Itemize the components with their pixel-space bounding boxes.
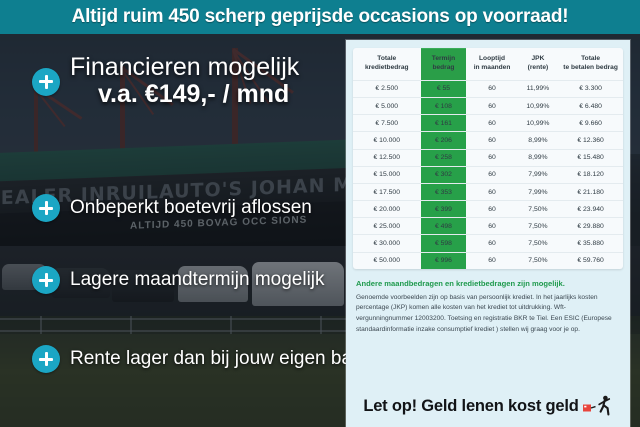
plus-icon [32,68,60,96]
table-cell: € 3.300 [558,80,623,97]
table-cell: € 25.000 [353,218,421,235]
table-cell: € 35.880 [558,235,623,252]
table-cell: € 18.120 [558,166,623,183]
rates-table-head: Totalekredietbedrag Termijnbedrag Loopti… [353,49,623,81]
rates-table-body: € 2.500€ 556011,99%€ 3.300€ 5.000€ 10860… [353,80,623,269]
table-cell: 7,50% [518,218,559,235]
top-banner-bar: Altijd ruim 450 scherp geprijsde occasio… [0,0,640,34]
table-row: € 20.000€ 399607,50%€ 23.940 [353,201,623,218]
table-row: € 30.000€ 598607,50%€ 35.880 [353,235,623,252]
table-cell: € 206 [421,132,467,149]
table-cell: € 6.480 [558,97,623,114]
table-cell: € 59.760 [558,252,623,269]
table-cell: 60 [466,252,517,269]
table-row: € 15.000€ 302607,99%€ 18.120 [353,166,623,183]
table-cell: € 17.500 [353,183,421,200]
table-cell: € 12.500 [353,149,421,166]
disclaimer-title: Andere maandbedragen en kredietbedragen … [356,279,620,289]
table-cell: € 2.500 [353,80,421,97]
table-cell: 7,50% [518,235,559,252]
table-cell: € 5.000 [353,97,421,114]
table-cell: 8,99% [518,132,559,149]
loan-warning: Let op! Geld lenen kost geld [346,395,630,417]
rates-table: Totalekredietbedrag Termijnbedrag Loopti… [353,48,623,269]
table-cell: 10,99% [518,97,559,114]
col-header-jpk: JPK(rente) [518,49,559,81]
rates-table-container: Totalekredietbedrag Termijnbedrag Loopti… [353,48,623,269]
table-cell: € 29.880 [558,218,623,235]
table-cell: € 30.000 [353,235,421,252]
table-cell: € 598 [421,235,467,252]
table-cell: € 55 [421,80,467,97]
col-header-total-credit: Totalekredietbedrag [353,49,421,81]
afm-running-man-money-icon [583,395,613,417]
table-cell: 60 [466,183,517,200]
table-cell: € 21.180 [558,183,623,200]
table-cell: 7,50% [518,252,559,269]
table-cell: € 15.000 [353,166,421,183]
top-banner-text: Altijd ruim 450 scherp geprijsde occasio… [72,6,569,28]
col-header-total-payable: Totalete betalen bedrag [558,49,623,81]
table-cell: € 23.940 [558,201,623,218]
table-cell: € 258 [421,149,467,166]
table-cell: 10,99% [518,115,559,132]
table-cell: 60 [466,97,517,114]
benefit-item-lower-rate: Rente lager dan bij jouw eigen bank [32,345,372,373]
promo-banner: Altijd ruim 450 scherp geprijsde occasio… [0,0,640,427]
disclaimer-body: Genoemde voorbeelden zijn op basis van p… [356,293,620,336]
table-row: € 10.000€ 206608,99%€ 12.360 [353,132,623,149]
table-cell: 7,99% [518,166,559,183]
table-cell: 60 [466,149,517,166]
table-row: € 17.500€ 353607,99%€ 21.180 [353,183,623,200]
table-row: € 50.000€ 996607,50%€ 59.760 [353,252,623,269]
table-header-row: Totalekredietbedrag Termijnbedrag Loopti… [353,49,623,81]
table-cell: 60 [466,235,517,252]
table-cell: € 9.660 [558,115,623,132]
finance-info-card: Totalekredietbedrag Termijnbedrag Loopti… [346,40,630,427]
plus-icon [32,266,60,294]
financing-headline-line1: Financieren mogelijk [70,54,299,80]
table-cell: € 498 [421,218,467,235]
table-cell: € 50.000 [353,252,421,269]
col-header-duration: Looptijdin maanden [466,49,517,81]
table-cell: € 161 [421,115,467,132]
table-cell: € 302 [421,166,467,183]
table-cell: € 15.480 [558,149,623,166]
financing-headline: Financieren mogelijk v.a. €149,- / mnd [70,54,299,109]
plus-icon [32,345,60,373]
table-cell: € 12.360 [558,132,623,149]
table-cell: € 7.500 [353,115,421,132]
benefit-label: Onbeperkt boetevrij aflossen [70,197,312,219]
table-cell: € 996 [421,252,467,269]
disclaimer-block: Andere maandbedragen en kredietbedragen … [356,279,620,336]
table-row: € 5.000€ 1086010,99%€ 6.480 [353,97,623,114]
benefit-label: Rente lager dan bij jouw eigen bank [70,348,372,370]
benefit-item-penalty-free: Onbeperkt boetevrij aflossen [32,194,312,222]
table-row: € 7.500€ 1616010,99%€ 9.660 [353,115,623,132]
table-row: € 25.000€ 498607,50%€ 29.880 [353,218,623,235]
table-cell: 11,99% [518,80,559,97]
table-cell: 60 [466,80,517,97]
table-cell: 60 [466,201,517,218]
table-cell: 60 [466,218,517,235]
table-cell: 60 [466,132,517,149]
col-header-term-amount: Termijnbedrag [421,49,467,81]
table-cell: 7,99% [518,183,559,200]
table-cell: 60 [466,115,517,132]
table-cell: 8,99% [518,149,559,166]
table-cell: 60 [466,166,517,183]
benefit-label: Lagere maandtermijn mogelijk [70,269,325,291]
table-row: € 12.500€ 258608,99%€ 15.480 [353,149,623,166]
table-cell: € 353 [421,183,467,200]
table-cell: € 20.000 [353,201,421,218]
table-cell: € 10.000 [353,132,421,149]
financing-headline-line2: v.a. €149,- / mnd [98,80,299,109]
loan-warning-text: Let op! Geld lenen kost geld [363,397,578,416]
table-cell: € 399 [421,201,467,218]
table-cell: € 108 [421,97,467,114]
benefit-item-financing: Financieren mogelijk v.a. €149,- / mnd [32,54,299,109]
benefit-list: Financieren mogelijk v.a. €149,- / mnd O… [0,34,345,427]
benefit-item-lower-monthly: Lagere maandtermijn mogelijk [32,266,325,294]
table-cell: 7,50% [518,201,559,218]
table-row: € 2.500€ 556011,99%€ 3.300 [353,80,623,97]
plus-icon [32,194,60,222]
